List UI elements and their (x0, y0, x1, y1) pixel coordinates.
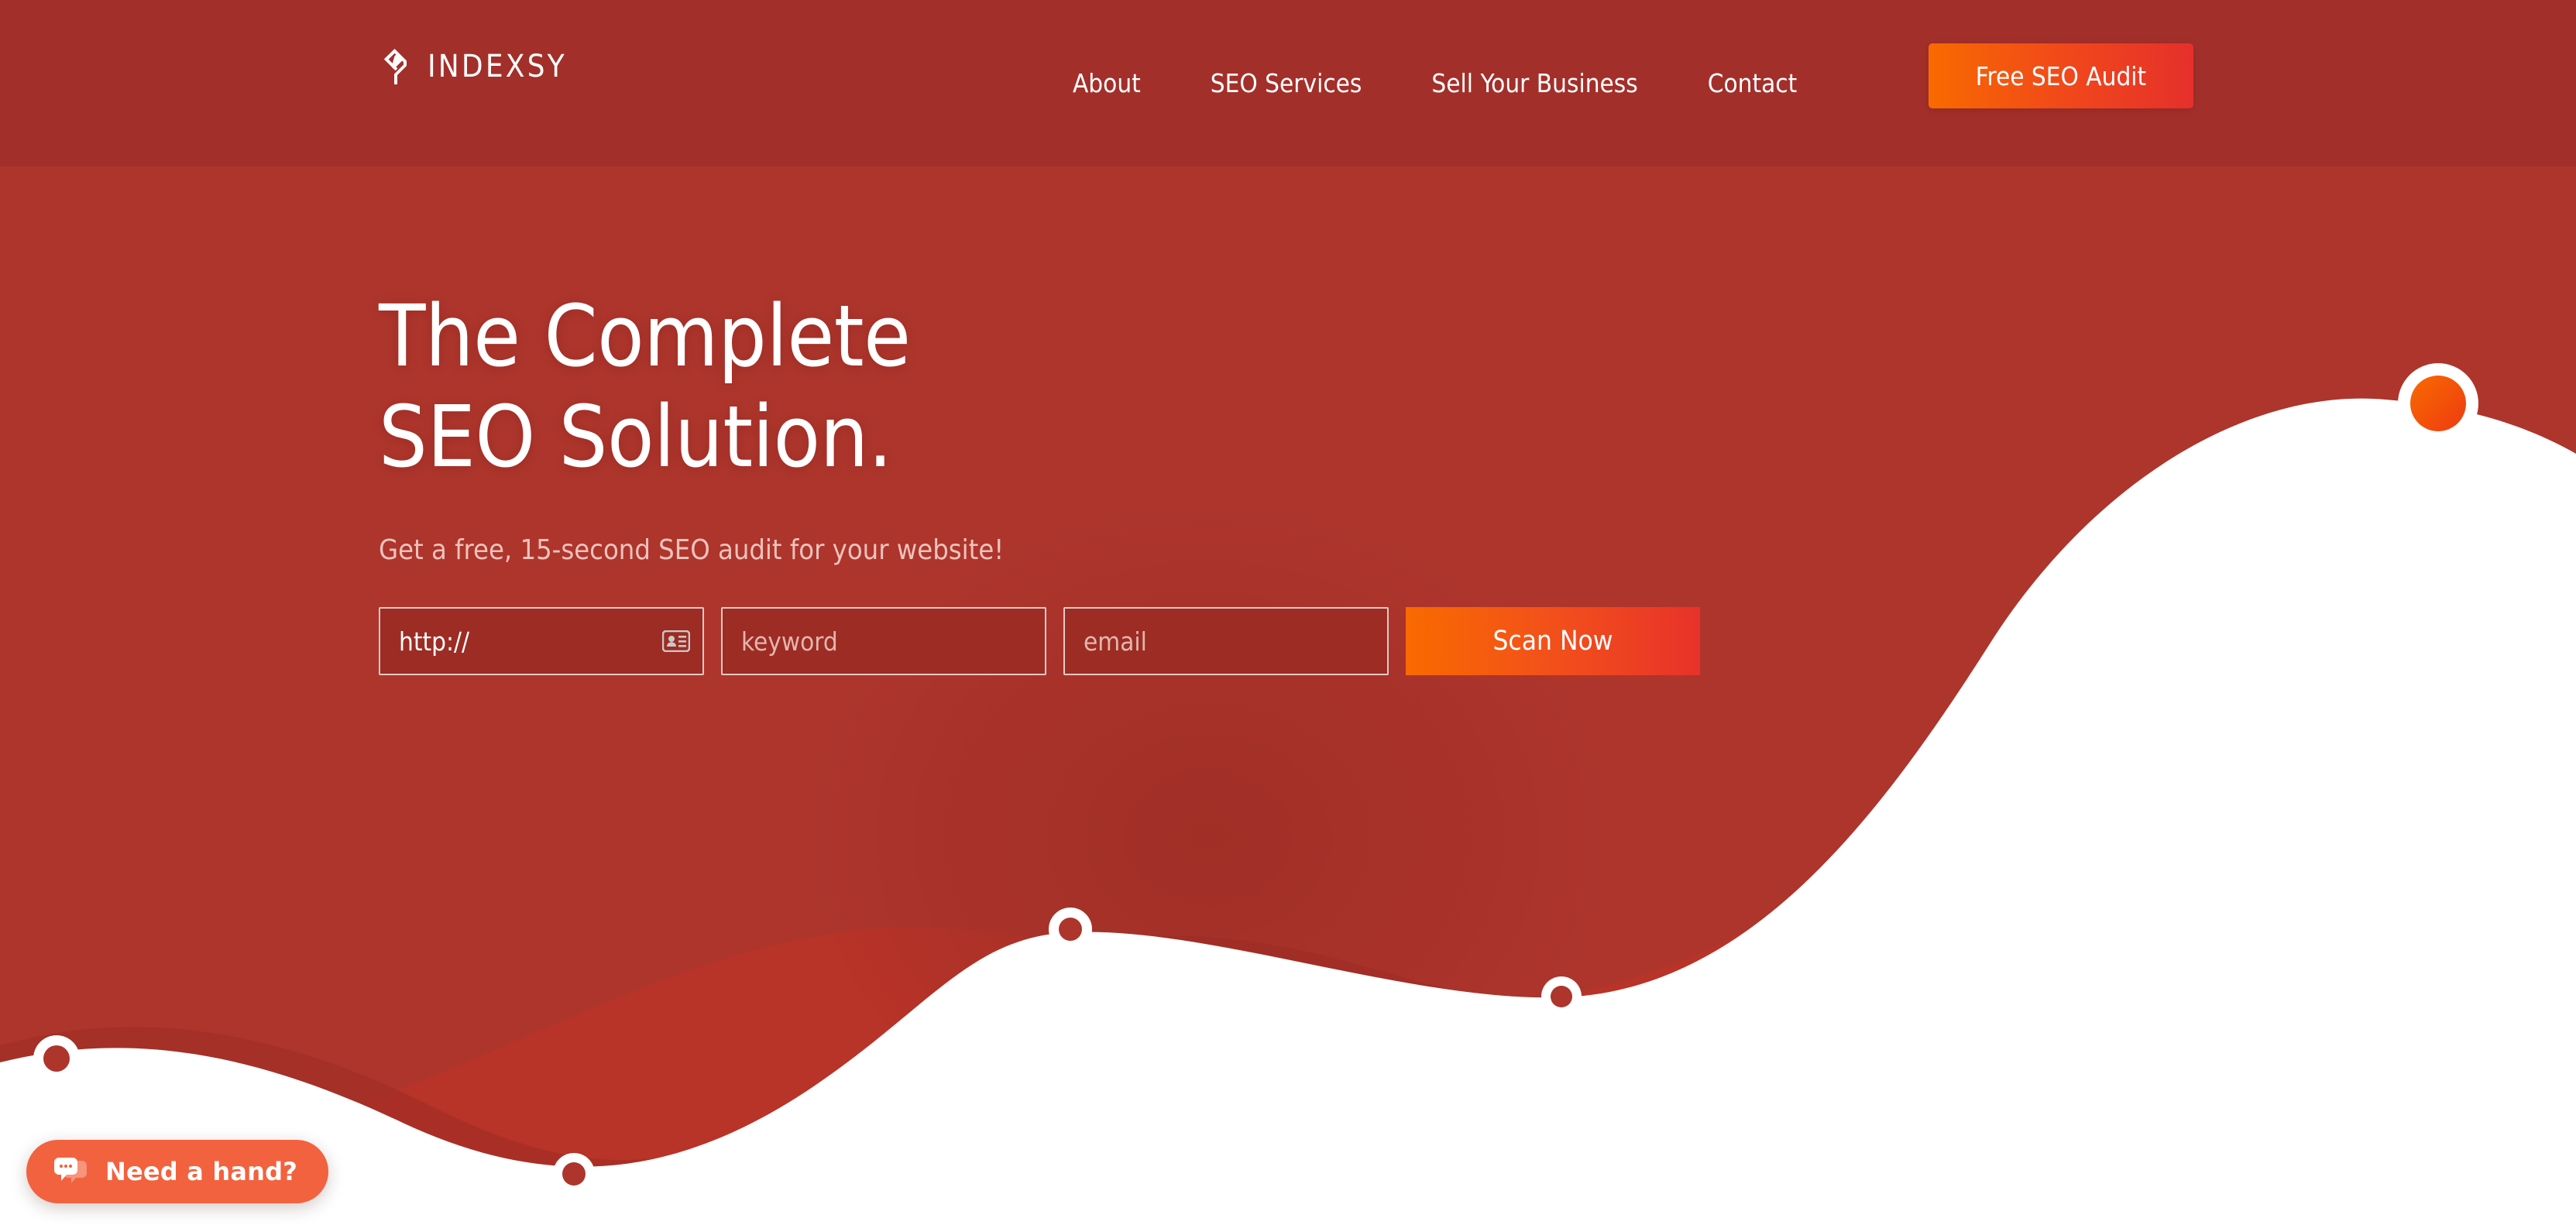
wave-node-peak (2398, 363, 2478, 444)
page-root: INDEXSY About SEO Services Sell Your Bus… (0, 0, 2576, 1225)
nav-link-seo-services[interactable]: SEO Services (1176, 70, 1397, 96)
site-header: INDEXSY About SEO Services Sell Your Bus… (0, 0, 2576, 166)
brand-name: INDEXSY (428, 51, 567, 82)
page-title: The Complete SEO Solution. (379, 287, 1700, 488)
wave-node-right-mid (1541, 976, 1582, 1017)
nav-link-about[interactable]: About (1038, 70, 1176, 96)
hero-section: The Complete SEO Solution. Get a free, 1… (379, 287, 1700, 675)
main-navigation: About SEO Services Sell Your Business Co… (1038, 0, 1832, 166)
chat-widget-button[interactable]: Need a hand? (26, 1140, 328, 1203)
free-seo-audit-button[interactable]: Free SEO Audit (1929, 43, 2193, 108)
nav-link-sell-your-business[interactable]: Sell Your Business (1396, 70, 1672, 96)
brand-logo[interactable]: INDEXSY (379, 46, 567, 87)
website-url-input[interactable] (379, 607, 704, 675)
wave-node-mid (1049, 908, 1092, 951)
indexsy-ribbon-logo-icon (379, 46, 413, 87)
wave-node-left (33, 1035, 80, 1082)
keyword-input[interactable] (721, 607, 1046, 675)
seo-scan-form: Scan Now (379, 607, 1700, 675)
wave-node-lower-left (553, 1153, 595, 1195)
url-field-wrapper (379, 607, 704, 675)
scan-now-button[interactable]: Scan Now (1406, 607, 1700, 675)
chat-bubble-icon (53, 1156, 88, 1187)
nav-link-contact[interactable]: Contact (1673, 70, 1832, 96)
hero-subtitle: Get a free, 15-second SEO audit for your… (379, 533, 1700, 569)
chat-widget-label: Need a hand? (105, 1157, 297, 1186)
email-input[interactable] (1063, 607, 1389, 675)
